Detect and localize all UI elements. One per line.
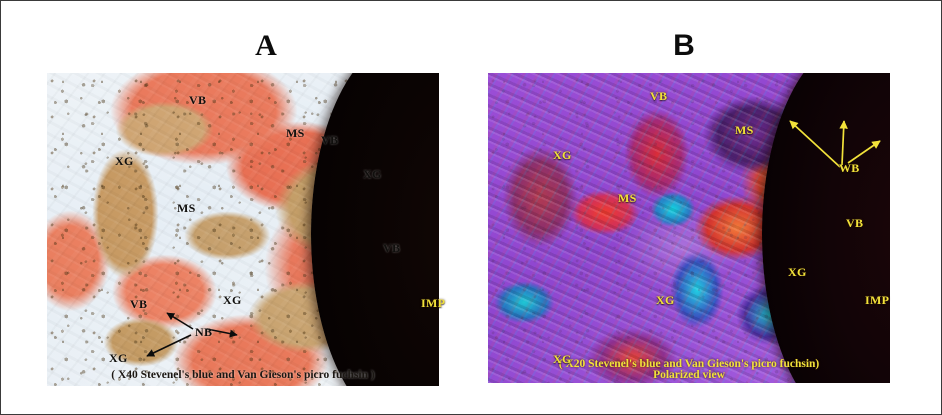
- micrograph-panel-b: ( X20 Stevenel's blue and Van Gieson's p…: [488, 73, 890, 383]
- structure-label-ms: MS: [618, 192, 637, 204]
- panel-letter-b: B: [654, 31, 714, 61]
- structure-label-xg: XG: [553, 149, 572, 161]
- structure-label-xg: XG: [553, 353, 572, 365]
- structure-label-vb: VB: [383, 242, 400, 254]
- micrograph-panel-a: ( X40 Stevenel's blue and Van Gieson's p…: [47, 73, 439, 386]
- tissue-base-a: [47, 73, 439, 386]
- structure-label-vb: VB: [650, 90, 667, 102]
- panel-a-caption: ( X40 Stevenel's blue and Van Gieson's p…: [47, 369, 439, 382]
- structure-label-vb: VB: [189, 94, 206, 106]
- structure-label-vb: VB: [130, 298, 147, 310]
- structure-label-ms: MS: [735, 124, 754, 136]
- panel-letter-a: A: [236, 31, 296, 61]
- structure-label-vb: VB: [846, 217, 863, 229]
- figure-root: A B ( X40 Stevenel's blue and Van Gieson…: [0, 0, 942, 415]
- structure-label-xg: XG: [223, 294, 242, 306]
- panel-b-caption-view: Polarized view: [488, 369, 890, 382]
- structure-label-wb: WB: [839, 162, 860, 174]
- structure-label-xg: XG: [656, 294, 675, 306]
- structure-label-nb: NB: [195, 326, 212, 338]
- structure-label-ms: MS: [286, 127, 305, 139]
- structure-label-xg: XG: [115, 155, 134, 167]
- structure-label-xg: XG: [788, 266, 807, 278]
- structure-label-vb: VB: [321, 134, 338, 146]
- structure-label-imp: IMP: [421, 297, 445, 309]
- structure-label-imp: IMP: [865, 294, 889, 306]
- structure-label-xg: XG: [109, 352, 128, 364]
- structure-label-xg: XG: [363, 168, 382, 180]
- tissue-base-b: [488, 73, 890, 383]
- structure-label-ms: MS: [177, 202, 196, 214]
